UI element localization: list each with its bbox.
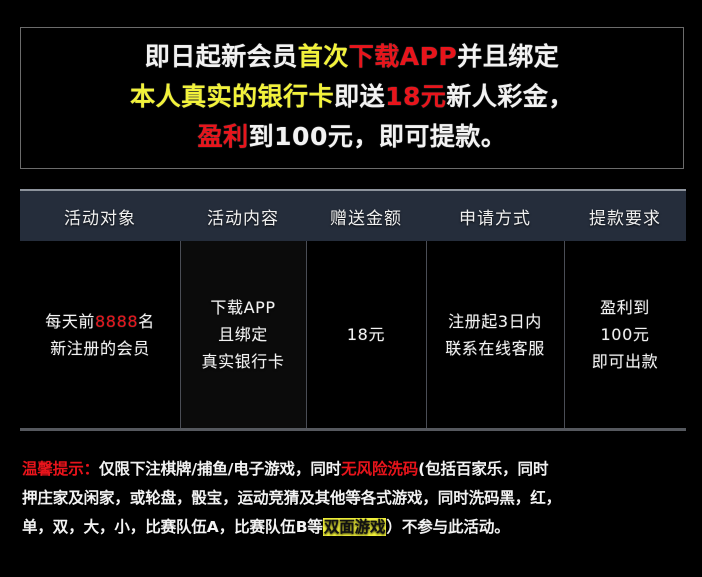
text-run: 下载APP [210, 298, 275, 317]
text-run: 首次 [298, 42, 349, 71]
cell-line: 盈利到 [600, 294, 650, 321]
text-run: 无风险洗码 [341, 460, 418, 478]
text-run: 即送 [334, 82, 385, 111]
table-cell-activity-target: 每天前8888名新注册的会员 [20, 241, 180, 428]
promotion-table: 活动对象 活动内容 赠送金额 申请方式 提款要求 每天前8888名新注册的会员 … [20, 189, 686, 433]
cell-line: 注册起3日内 [448, 308, 542, 335]
text-run: 押庄家及闲家，或轮盘，骰宝，运动竞猜及其他等各式游戏，同时洗码黑，红， [22, 489, 561, 507]
table-header-row: 活动对象 活动内容 赠送金额 申请方式 提款要求 [20, 189, 686, 241]
table-cell-withdraw-requirement: 盈利到100元即可出款 [564, 241, 686, 428]
cell-line: 且绑定 [218, 321, 268, 348]
text-run: 双面游戏 [323, 518, 387, 536]
headline-line-1: 即日起新会员首次下载APP并且绑定 [145, 37, 560, 77]
text-run: 仅限下注棋牌/捕鱼/电子游戏，同时 [99, 460, 341, 478]
terms-note-line-3: 单，双，大，小，比赛队伍A，比赛队伍B等双面游戏）不参与此活动。 [22, 513, 684, 542]
text-run: 温馨提示： [22, 460, 99, 478]
table-header-withdraw-requirement: 提款要求 [564, 191, 686, 241]
text-run: 名 [138, 312, 155, 331]
text-run: 每天前 [45, 312, 95, 331]
terms-note: 温馨提示：仅限下注棋牌/捕鱼/电子游戏，同时无风险洗码(包括百家乐，同时 押庄家… [22, 455, 684, 542]
cell-line: 100元 [601, 321, 650, 348]
cell-line: 真实银行卡 [201, 348, 284, 375]
text-run: 8888 [95, 312, 138, 331]
text-run: 且绑定 [218, 325, 268, 344]
table-cell-apply-method: 注册起3日内联系在线客服 [426, 241, 564, 428]
table-header-activity-content: 活动内容 [180, 191, 306, 241]
text-run: 18元 [385, 82, 446, 111]
table-cell-activity-content: 下载APP且绑定真实银行卡 [180, 241, 306, 428]
cell-line: 下载APP [210, 294, 275, 321]
table-header-activity-target: 活动对象 [20, 191, 180, 241]
text-run: 真实银行卡 [201, 352, 284, 371]
table-header-bonus-amount: 赠送金额 [306, 191, 426, 241]
text-run: 18元 [347, 325, 385, 344]
text-run: 下载APP [349, 42, 458, 71]
text-run: 盈利 [198, 122, 249, 151]
cell-line: 联系在线客服 [445, 335, 545, 362]
headline-line-2: 本人真实的银行卡即送18元新人彩金， [130, 77, 574, 117]
text-run: 新注册的会员 [50, 339, 150, 358]
text-run: 到100元，即可提款。 [249, 122, 507, 151]
terms-note-line-1: 温馨提示：仅限下注棋牌/捕鱼/电子游戏，同时无风险洗码(包括百家乐，同时 [22, 455, 684, 484]
text-run: 盈利到 [600, 298, 650, 317]
headline-line-3: 盈利到100元，即可提款。 [198, 117, 507, 157]
cell-line: 即可出款 [592, 348, 658, 375]
table-cell-bonus-amount: 18元 [306, 241, 426, 428]
text-run: ）不参与此活动。 [386, 518, 509, 536]
text-run: 注册起3日内 [448, 312, 542, 331]
text-run: (包括百家乐，同时 [418, 460, 548, 478]
promo-banner: 即日起新会员首次下载APP并且绑定 本人真实的银行卡即送18元新人彩金， 盈利到… [0, 0, 702, 577]
text-run: 本人真实的银行卡 [130, 82, 334, 111]
text-run: 即日起新会员 [145, 42, 298, 71]
text-run: 并且绑定 [457, 42, 559, 71]
cell-line: 18元 [347, 321, 385, 348]
text-run: 100元 [601, 325, 650, 344]
cell-line: 每天前8888名 [45, 308, 155, 335]
terms-note-line-2: 押庄家及闲家，或轮盘，骰宝，运动竞猜及其他等各式游戏，同时洗码黑，红， [22, 484, 684, 513]
headline-box: 即日起新会员首次下载APP并且绑定 本人真实的银行卡即送18元新人彩金， 盈利到… [20, 27, 684, 169]
text-run: 单，双，大，小，比赛队伍A，比赛队伍B等 [22, 518, 323, 536]
text-run: 联系在线客服 [445, 339, 545, 358]
table-header-apply-method: 申请方式 [426, 191, 564, 241]
text-run: 新人彩金， [446, 82, 574, 111]
table-row: 每天前8888名新注册的会员 下载APP且绑定真实银行卡 18元 注册起3日内联… [20, 241, 686, 431]
cell-line: 新注册的会员 [50, 335, 150, 362]
text-run: 即可出款 [592, 352, 658, 371]
